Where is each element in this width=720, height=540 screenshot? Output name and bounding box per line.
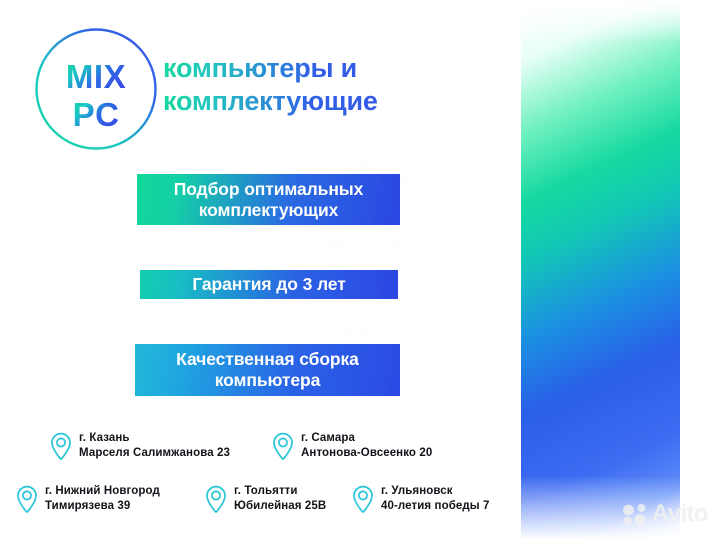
badge-1-line1: Гарантия до 3 лет	[192, 274, 345, 295]
address-city: г. Самара	[301, 431, 432, 446]
map-pin-icon	[50, 432, 72, 462]
address-city: г. Нижний Новгород	[45, 484, 160, 499]
address-item-kazan: г. Казань Марселя Салимжанова 23	[50, 431, 230, 462]
logo-icon: MIX PC	[33, 26, 159, 152]
address-city: г. Тольятти	[234, 484, 326, 499]
benefit-2-line1: Услуга	[331, 303, 389, 322]
address-text: г. Нижний Новгород Тимирязева 39	[45, 484, 160, 514]
avito-logo-icon	[622, 502, 648, 526]
map-pin-icon	[272, 432, 294, 462]
address-text: г. Ульяновск 40-летия победы 7	[381, 484, 490, 514]
avito-wordmark: Avito	[652, 500, 708, 528]
benefit-item-1: 10.000+ довольных Клиентов	[315, 218, 404, 275]
address-street: Юбилейная 25В	[234, 499, 326, 514]
benefit-1-line2: довольных	[315, 237, 404, 256]
feature-badge-optimal-parts: Подбор оптимальных комплектующих	[137, 174, 400, 225]
address-text: г. Казань Марселя Салимжанова 23	[79, 431, 230, 461]
address-street: Антонова-Овсеенко 20	[301, 446, 432, 461]
badge-0-line2: комплектующих	[174, 200, 364, 221]
badge-0-line1: Подбор оптимальных	[174, 179, 364, 200]
page-title: компьютеры и комплектующие	[163, 52, 493, 118]
headline-line-2: комплектующие	[163, 85, 493, 118]
advertisement-banner: Бесплатная консультация 10.000+ довольны…	[0, 0, 720, 540]
address-item-nizhny-novgorod: г. Нижний Новгород Тимирязева 39	[16, 484, 160, 515]
svg-text:MIX: MIX	[66, 58, 126, 95]
benefit-0-line1: Бесплатная	[307, 152, 414, 171]
badge-2-line2: компьютера	[176, 370, 359, 391]
headline-line-1: компьютеры и	[163, 52, 493, 85]
badge-2-line1: Качественная сборка	[176, 349, 359, 370]
feature-badge-quality-build: Качественная сборка компьютера	[135, 344, 400, 396]
address-city: г. Казань	[79, 431, 230, 446]
map-pin-icon	[352, 485, 374, 515]
avito-watermark: Avito	[622, 500, 708, 528]
address-text: г. Самара Антонова-Овсеенко 20	[301, 431, 432, 461]
map-pin-icon	[16, 485, 38, 515]
feature-badge-warranty: Гарантия до 3 лет	[140, 270, 398, 299]
address-item-ulyanovsk: г. Ульяновск 40-летия победы 7	[352, 484, 490, 515]
benefit-2-line2: trade-in	[331, 321, 389, 340]
address-item-tolyatti: г. Тольятти Юбилейная 25В	[205, 484, 326, 515]
brand-logo: MIX PC	[33, 26, 159, 152]
address-item-samara: г. Самара Антонова-Овсеенко 20	[272, 431, 432, 462]
address-street: Марселя Салимжанова 23	[79, 446, 230, 461]
address-street: 40-летия победы 7	[381, 499, 490, 514]
benefit-item-2: Услуга trade-in	[331, 303, 389, 341]
address-city: г. Ульяновск	[381, 484, 490, 499]
map-pin-icon	[205, 485, 227, 515]
address-street: Тимирязева 39	[45, 499, 160, 514]
address-text: г. Тольятти Юбилейная 25В	[234, 484, 326, 514]
svg-text:PC: PC	[73, 96, 120, 133]
